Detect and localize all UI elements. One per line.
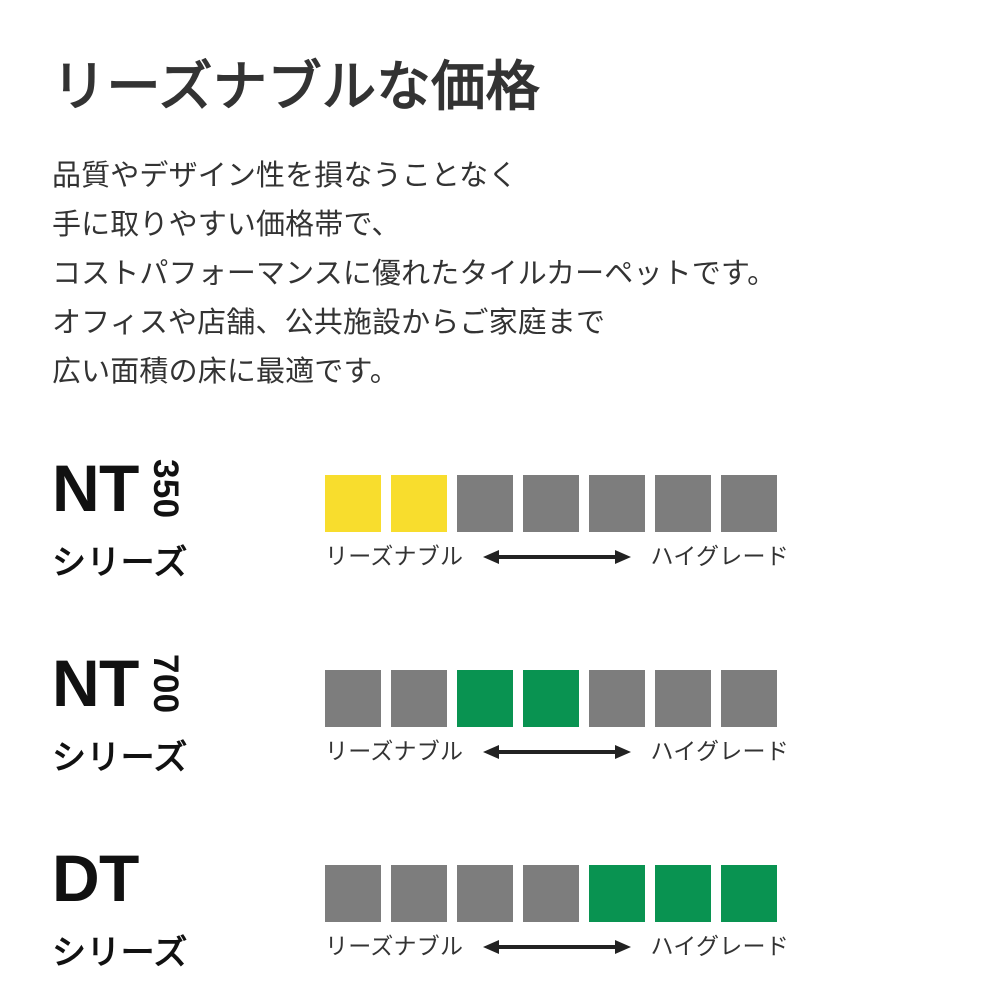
description-line-4: オフィスや店舗、公共施設からご家庭まで — [52, 299, 776, 348]
double-headed-arrow-icon — [483, 937, 631, 957]
scale-low-label: リーズナブル — [325, 545, 463, 568]
swatch-6 — [655, 865, 711, 922]
series-name-dt: DT — [52, 845, 302, 917]
swatch-3 — [457, 865, 513, 922]
series-number: 700 — [148, 654, 183, 724]
swatch-4 — [523, 865, 579, 922]
scale-legend: リーズナブル ハイグレード — [325, 740, 789, 763]
swatch-6 — [655, 475, 711, 532]
series-label-dt: DT シリーズ — [52, 845, 302, 973]
grade-scale-nt350: リーズナブル ハイグレード — [325, 475, 789, 568]
series-suffix: シリーズ — [52, 543, 302, 583]
scale-legend: リーズナブル ハイグレード — [325, 545, 789, 568]
series-label-nt350: NT 350 シリーズ — [52, 455, 302, 583]
series-number: 350 — [148, 459, 183, 529]
double-headed-arrow-icon — [483, 547, 631, 567]
series-code: NT — [52, 455, 139, 521]
scale-high-label: ハイグレード — [651, 740, 789, 763]
swatch-4 — [523, 670, 579, 727]
page-title: リーズナブルな価格 — [52, 58, 540, 117]
double-headed-arrow-icon — [483, 742, 631, 762]
swatch-6 — [655, 670, 711, 727]
swatch-7 — [721, 865, 777, 922]
series-code: NT — [52, 650, 139, 716]
series-name-nt350: NT 350 — [52, 455, 302, 527]
scale-high-label: ハイグレード — [651, 545, 789, 568]
swatch-5 — [589, 475, 645, 532]
description-line-1: 品質やデザイン性を損なうことなく — [52, 152, 776, 201]
swatch-2 — [391, 865, 447, 922]
swatch-1 — [325, 475, 381, 532]
description-text: 品質やデザイン性を損なうことなく 手に取りやすい価格帯で、 コストパフォーマンス… — [52, 152, 776, 397]
grade-scale-dt: リーズナブル ハイグレード — [325, 865, 789, 958]
swatch-1 — [325, 865, 381, 922]
description-line-5: 広い面積の床に最適です。 — [52, 348, 776, 397]
series-code: DT — [52, 845, 139, 911]
series-name-nt700: NT 700 — [52, 650, 302, 722]
swatch-3 — [457, 670, 513, 727]
swatch-4 — [523, 475, 579, 532]
scale-low-label: リーズナブル — [325, 740, 463, 763]
swatch-2 — [391, 475, 447, 532]
swatch-1 — [325, 670, 381, 727]
grade-scale-nt700: リーズナブル ハイグレード — [325, 670, 789, 763]
scale-high-label: ハイグレード — [651, 935, 789, 958]
swatch-2 — [391, 670, 447, 727]
description-line-3: コストパフォーマンスに優れたタイルカーペットです。 — [52, 250, 776, 299]
swatch-7 — [721, 475, 777, 532]
series-label-nt700: NT 700 シリーズ — [52, 650, 302, 778]
scale-low-label: リーズナブル — [325, 935, 463, 958]
swatch-strip — [325, 475, 789, 532]
series-suffix: シリーズ — [52, 738, 302, 778]
swatch-strip — [325, 670, 789, 727]
swatch-strip — [325, 865, 789, 922]
swatch-3 — [457, 475, 513, 532]
series-suffix: シリーズ — [52, 933, 302, 973]
description-line-2: 手に取りやすい価格帯で、 — [52, 201, 776, 250]
swatch-5 — [589, 865, 645, 922]
swatch-7 — [721, 670, 777, 727]
scale-legend: リーズナブル ハイグレード — [325, 935, 789, 958]
swatch-5 — [589, 670, 645, 727]
